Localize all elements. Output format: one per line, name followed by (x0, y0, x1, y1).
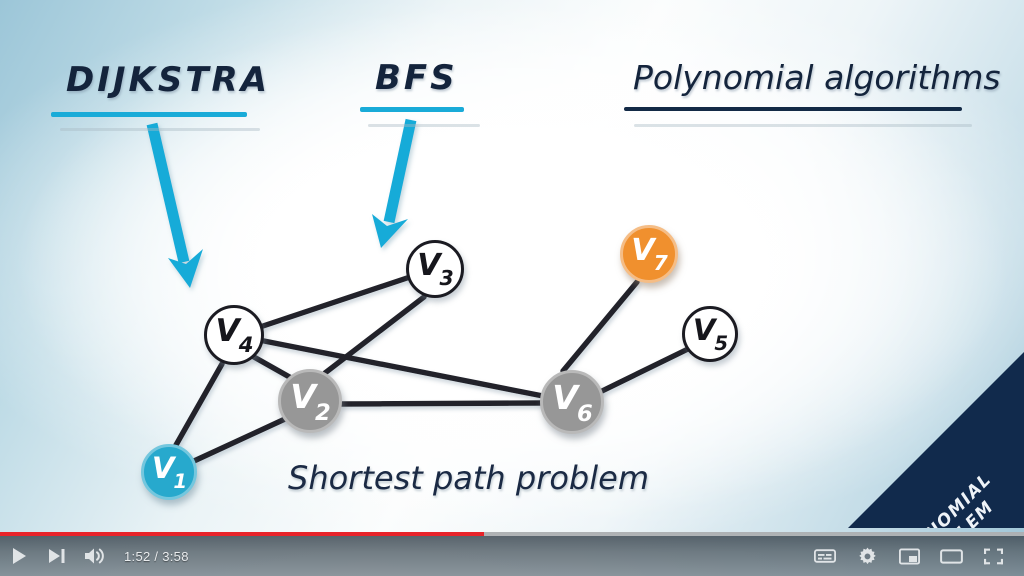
next-button[interactable] (38, 536, 76, 576)
volume-button[interactable] (76, 536, 114, 576)
control-button-row: 1:52 / 3:58 (0, 536, 1024, 576)
arrow-dijkstra (152, 124, 203, 288)
heading-bfs-underline (360, 107, 464, 112)
video-player-controls: 1:52 / 3:58 (0, 532, 1024, 576)
graph-node-subscript: 3 (440, 266, 453, 290)
caption-shortest-path-problem: Shortest path problem (288, 459, 649, 497)
fullscreen-button[interactable] (972, 536, 1014, 576)
fullscreen-icon (984, 548, 1003, 565)
heading-polynomial-underline-shadow (634, 124, 972, 127)
play-icon (11, 547, 28, 565)
graph-node-v1: V1 (141, 444, 197, 500)
edge-v2-v1 (194, 419, 285, 461)
play-button[interactable] (0, 536, 38, 576)
settings-button[interactable] (846, 536, 888, 576)
graph-node-v4: V4 (204, 305, 264, 365)
next-icon (48, 548, 66, 564)
graph-node-label: V1 (152, 454, 186, 489)
subtitles-icon (814, 548, 836, 564)
graph-node-label: V2 (290, 380, 330, 420)
right-control-group (804, 536, 1024, 576)
graph-node-subscript: 1 (173, 470, 186, 493)
graph-node-subscript: 7 (654, 251, 667, 275)
heading-dijkstra-underline (51, 112, 247, 117)
heading-bfs: BFS (375, 58, 458, 98)
edge-v6-v7 (563, 282, 637, 371)
miniplayer-button[interactable] (888, 536, 930, 576)
graph-node-label: V5 (693, 316, 727, 351)
graph-node-label: V7 (631, 236, 667, 271)
edge-v4-v2 (254, 357, 293, 379)
theater-icon (940, 548, 963, 565)
gear-icon (858, 547, 877, 566)
heading-dijkstra-underline-shadow (60, 128, 260, 131)
graph-node-v7: V7 (620, 225, 678, 283)
graph-node-subscript: 2 (315, 400, 330, 426)
graph-node-v3: V3 (406, 240, 464, 298)
miniplayer-icon (899, 548, 920, 565)
heading-bfs-underline-shadow (368, 124, 480, 127)
edge-v4-v1 (176, 364, 222, 445)
graph-node-v6: V6 (540, 370, 604, 434)
edge-v2-v6 (342, 403, 541, 404)
arrow-bfs (372, 120, 411, 248)
edge-v6-v5 (600, 349, 688, 392)
graph-node-label: V3 (417, 251, 453, 286)
heading-polynomial-underline (624, 107, 962, 111)
edge-v4-v3 (263, 277, 410, 326)
graph-node-v2: V2 (278, 369, 342, 433)
subtitles-button[interactable] (804, 536, 846, 576)
heading-dijkstra: DIJKSTRA (66, 60, 270, 100)
graph-node-subscript: 5 (714, 332, 727, 355)
video-frame: DIJKSTRA BFS Polynomial algorithms V1V2V… (0, 0, 1024, 576)
polynomial-problem-badge: POLYNOMIAL PROBLEM (848, 352, 1024, 528)
graph-node-v5: V5 (682, 306, 738, 362)
heading-polynomial-algorithms: Polynomial algorithms (633, 58, 1001, 97)
graph-edges (176, 277, 688, 461)
graph-node-label: V4 (216, 316, 253, 352)
time-display: 1:52 / 3:58 (124, 549, 189, 564)
badge-triangle (848, 352, 1024, 528)
graph-node-label: V6 (552, 381, 592, 421)
volume-icon (84, 547, 106, 565)
theater-button[interactable] (930, 536, 972, 576)
graph-node-subscript: 6 (577, 401, 592, 427)
graph-node-subscript: 4 (239, 333, 253, 358)
